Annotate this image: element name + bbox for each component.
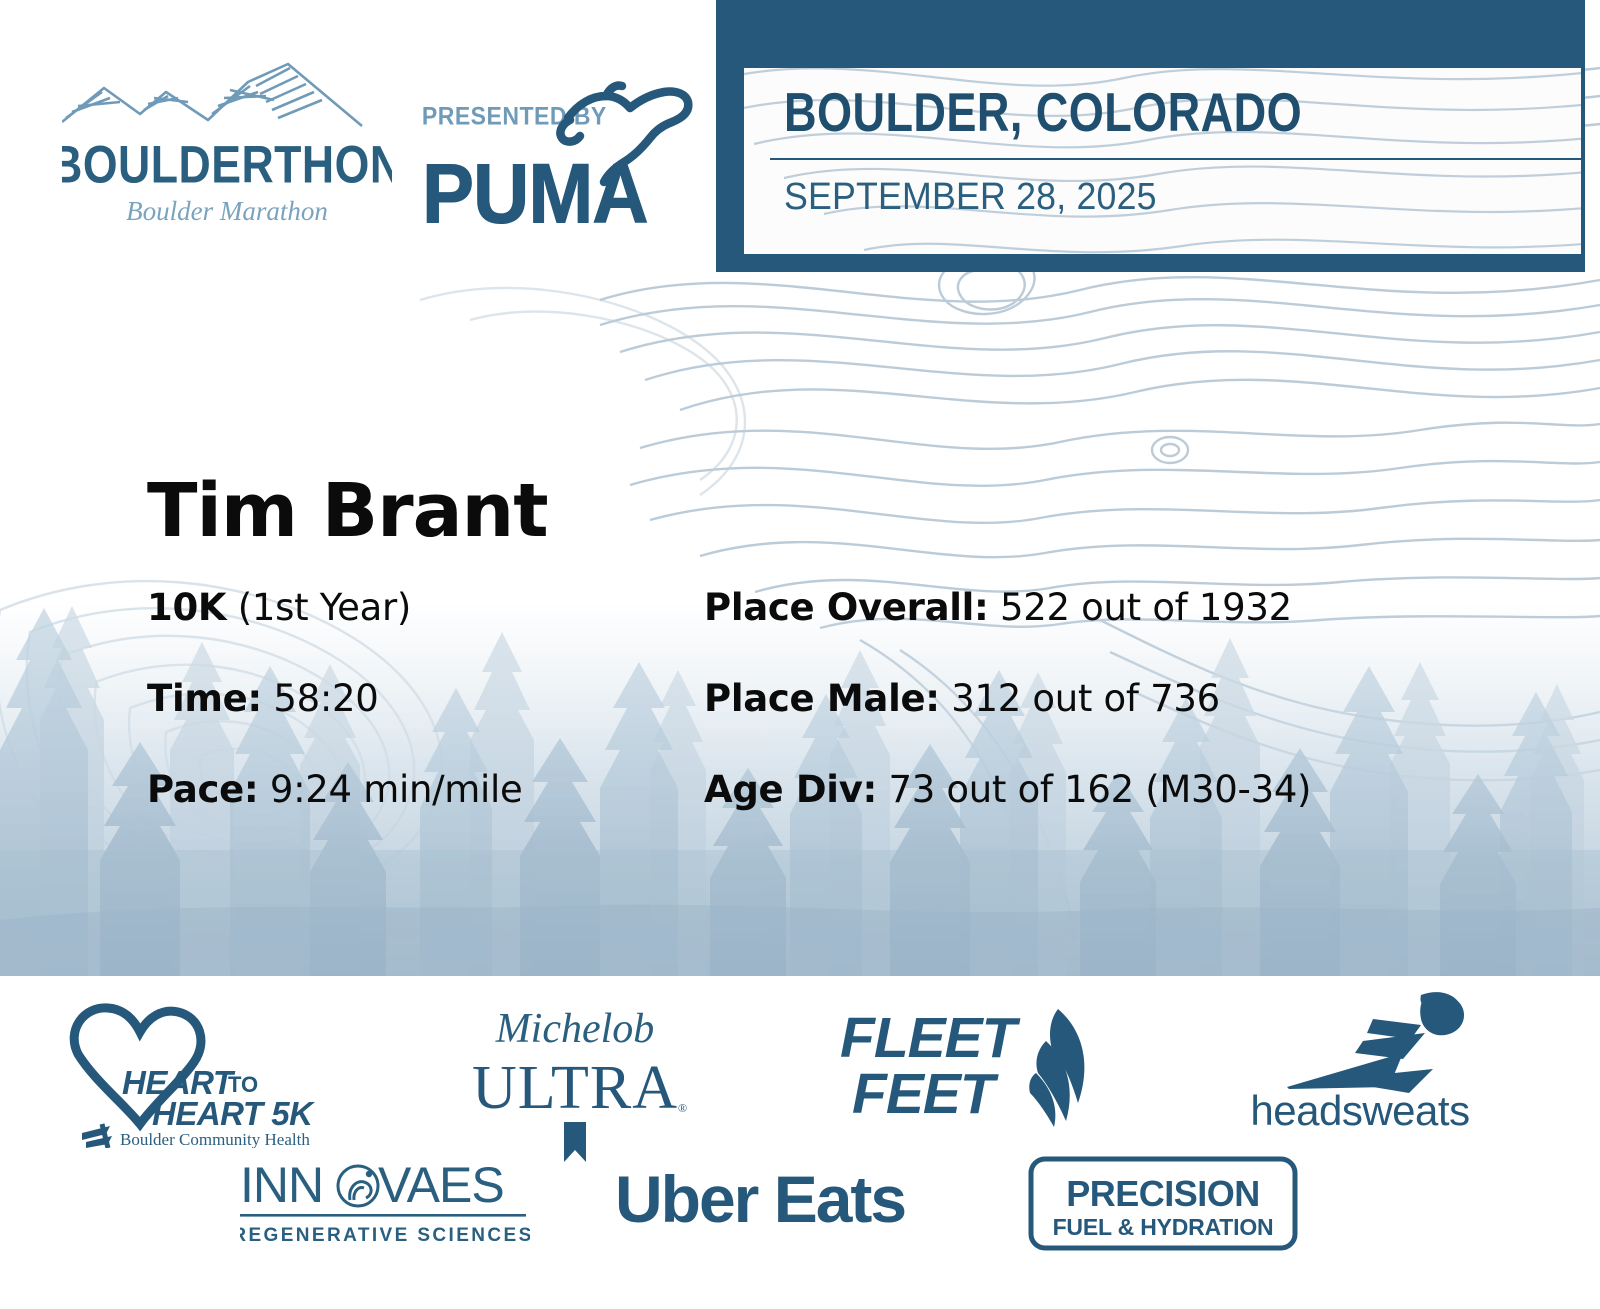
svg-text:Boulder Marathon: Boulder Marathon bbox=[126, 196, 328, 226]
race-result-certificate: BOULDERTHON Boulder Marathon PRESENTED B… bbox=[0, 0, 1600, 1309]
pace-line: Pace: 9:24 min/mile bbox=[147, 768, 522, 811]
sponsor-logo-innovaes: INN VAES REGENERATIVE SCIENCES bbox=[240, 1156, 530, 1246]
h2h-sub: Boulder Community Health bbox=[120, 1130, 310, 1148]
place-overall-line: Place Overall: 522 out of 1932 bbox=[704, 586, 1292, 629]
precision-line1: PRECISION bbox=[1066, 1173, 1260, 1214]
banner-inner-panel: BOULDER, COLORADO SEPTEMBER 28, 2025 bbox=[744, 68, 1581, 254]
place-overall-label: Place Overall: bbox=[704, 586, 989, 629]
place-gender-value: 312 out of 736 bbox=[951, 677, 1220, 720]
runner-name: Tim Brant bbox=[147, 468, 548, 554]
time-line: Time: 58:20 bbox=[147, 677, 378, 720]
place-gender-label: Place Male: bbox=[704, 677, 940, 720]
distance-label: 10K bbox=[147, 586, 226, 629]
headsweats-wordmark: headsweats bbox=[1250, 1087, 1469, 1131]
event-location-banner: BOULDER, COLORADO SEPTEMBER 28, 2025 bbox=[716, 0, 1585, 272]
boulderthon-logo: BOULDERTHON Boulder Marathon bbox=[62, 58, 392, 258]
year-note: (1st Year) bbox=[238, 586, 411, 629]
age-div-value: 73 out of 162 (M30-34) bbox=[888, 768, 1311, 811]
fleet-line2: FEET bbox=[852, 1062, 999, 1126]
banner-date-text: SEPTEMBER 28, 2025 bbox=[784, 176, 1157, 219]
h2h-line2: TO bbox=[228, 1072, 258, 1097]
pace-label: Pace: bbox=[147, 768, 258, 811]
sponsor-logo-fleet-feet: FLEET FEET bbox=[840, 1001, 1110, 1131]
svg-text:PUMA: PUMA bbox=[422, 148, 648, 241]
innovaes-sub: REGENERATIVE SCIENCES bbox=[240, 1225, 530, 1246]
distance-line: 10K (1st Year) bbox=[147, 586, 411, 629]
puma-presented-by-logo: PRESENTED BY PUMA bbox=[420, 70, 710, 245]
innovaes-wordmark-2: VAES bbox=[378, 1157, 504, 1213]
sponsor-logo-precision-fuel-hydration: PRECISION FUEL & HYDRATION bbox=[1028, 1156, 1298, 1251]
age-div-label: Age Div: bbox=[704, 768, 877, 811]
pace-value: 9:24 min/mile bbox=[270, 768, 523, 811]
sponsor-logo-heart-to-heart-5k: HEART TO HEART 5K Boulder Community Heal… bbox=[60, 998, 340, 1148]
uber-eats-wordmark: Uber Eats bbox=[615, 1162, 905, 1236]
banner-divider bbox=[770, 158, 1581, 160]
time-label: Time: bbox=[147, 677, 262, 720]
sponsor-logo-michelob-ultra: Michelob ULTRA ® bbox=[450, 996, 700, 1166]
innovaes-wordmark-1: INN bbox=[240, 1157, 323, 1213]
sponsor-logo-uber-eats: Uber Eats bbox=[615, 1156, 955, 1241]
banner-city-text: BOULDER, COLORADO bbox=[784, 80, 1302, 144]
svg-text:BOULDERTHON: BOULDERTHON bbox=[62, 136, 392, 194]
ultra-serif: ULTRA bbox=[472, 1054, 678, 1122]
sponsor-logo-headsweats: headsweats bbox=[1225, 991, 1495, 1131]
place-gender-line: Place Male: 312 out of 736 bbox=[704, 677, 1220, 720]
precision-line2: FUEL & HYDRATION bbox=[1053, 1214, 1274, 1240]
place-overall-value: 522 out of 1932 bbox=[1000, 586, 1292, 629]
svg-text:®: ® bbox=[678, 1101, 687, 1115]
age-div-line: Age Div: 73 out of 162 (M30-34) bbox=[704, 768, 1311, 811]
h2h-line3: HEART 5K bbox=[152, 1095, 315, 1132]
michelob-script: Michelob bbox=[495, 1006, 655, 1052]
fleet-line1: FLEET bbox=[840, 1006, 1021, 1070]
sponsor-band: HEART TO HEART 5K Boulder Community Heal… bbox=[0, 976, 1600, 1309]
time-value: 58:20 bbox=[273, 677, 378, 720]
